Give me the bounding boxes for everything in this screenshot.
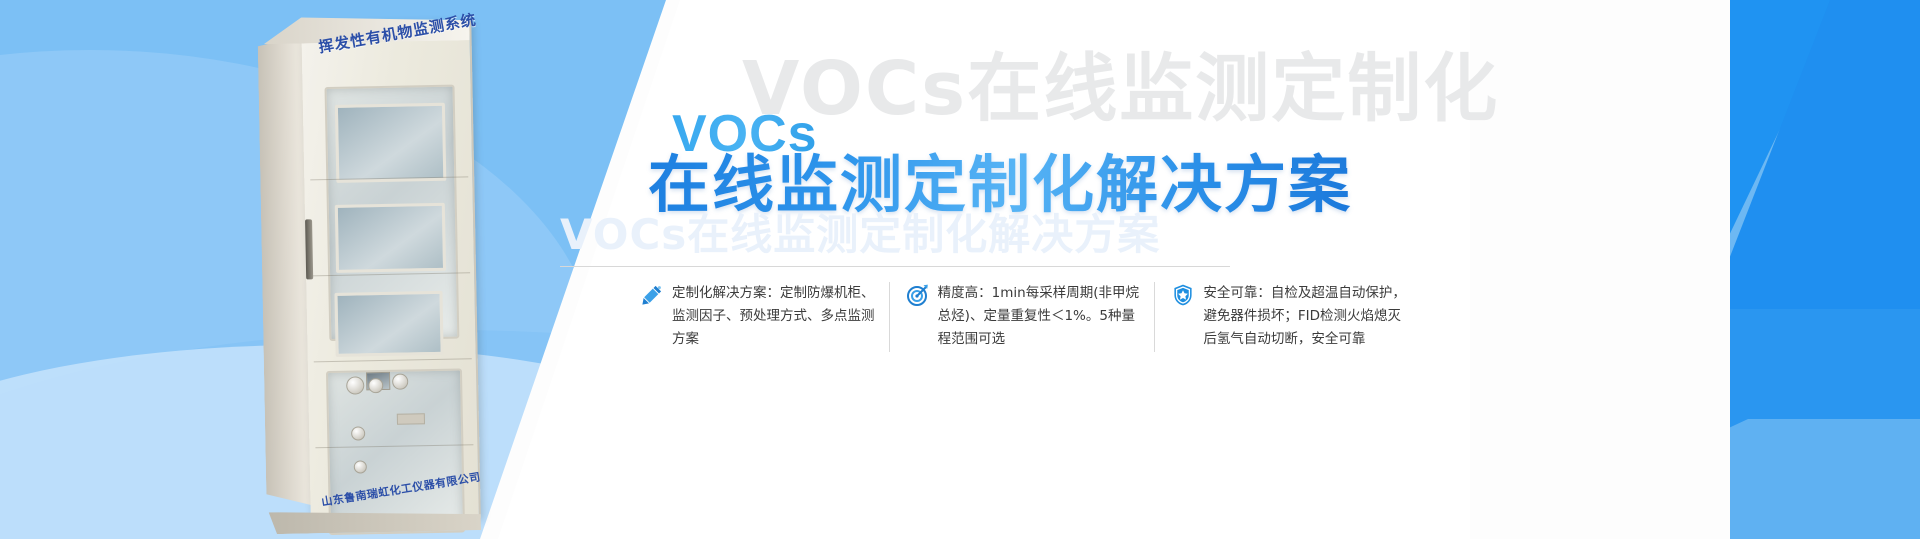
feature-text: 安全可靠：自检及超温自动保护，避免器件损坏；FID检测火焰熄灭后氢气自动切断，安…	[1203, 282, 1408, 352]
cabinet-instrument-window-3	[334, 291, 443, 357]
feature-item-precision: 精度高：1min每采样周期(非甲烷总烃)、定量重复性＜1%。5种量程范围可选	[889, 282, 1155, 352]
cabinet-glass-lower	[326, 368, 465, 535]
section-divider	[560, 266, 1230, 267]
feature-text: 精度高：1min每采样周期(非甲烷总烃)、定量重复性＜1%。5种量程范围可选	[938, 282, 1143, 352]
feature-item-safety: 安全可靠：自检及超温自动保护，避免器件损坏；FID检测火焰熄灭后氢气自动切断，安…	[1154, 282, 1420, 352]
cabinet-instrument-window-1	[335, 103, 446, 183]
target-precision-icon	[906, 283, 930, 307]
headline-chinese: 在线监测定制化解决方案	[648, 152, 1352, 219]
product-photo-vocs-cabinet: 挥发性有机物监测系统 山东鲁南瑞虹化工仪器有限公司	[257, 6, 507, 531]
background-blob-top-left	[0, 0, 280, 100]
ghost-watermark-top: VOCs在线监测定制化	[742, 52, 1499, 126]
shield-star-safety-icon	[1171, 283, 1195, 307]
cabinet-instrument-window-2	[335, 203, 446, 273]
cabinet-vent	[397, 413, 425, 425]
pen-customize-icon	[640, 283, 664, 307]
vocs-promo-banner: 挥发性有机物监测系统 山东鲁南瑞虹化工仪器有限公司 VOCs在线监测定制化 VO…	[0, 0, 1920, 539]
feature-item-customization: 定制化解决方案：定制防爆机柜、监测因子、预处理方式、多点监测方案	[640, 282, 889, 352]
feature-text: 定制化解决方案：定制防爆机柜、监测因子、预处理方式、多点监测方案	[672, 282, 877, 352]
feature-list: 定制化解决方案：定制防爆机柜、监测因子、预处理方式、多点监测方案 精度高：1mi…	[640, 282, 1420, 392]
ghost-watermark-bottom: VOCs在线监测定制化解决方案	[560, 214, 1160, 256]
cabinet-door-handle	[305, 219, 313, 279]
